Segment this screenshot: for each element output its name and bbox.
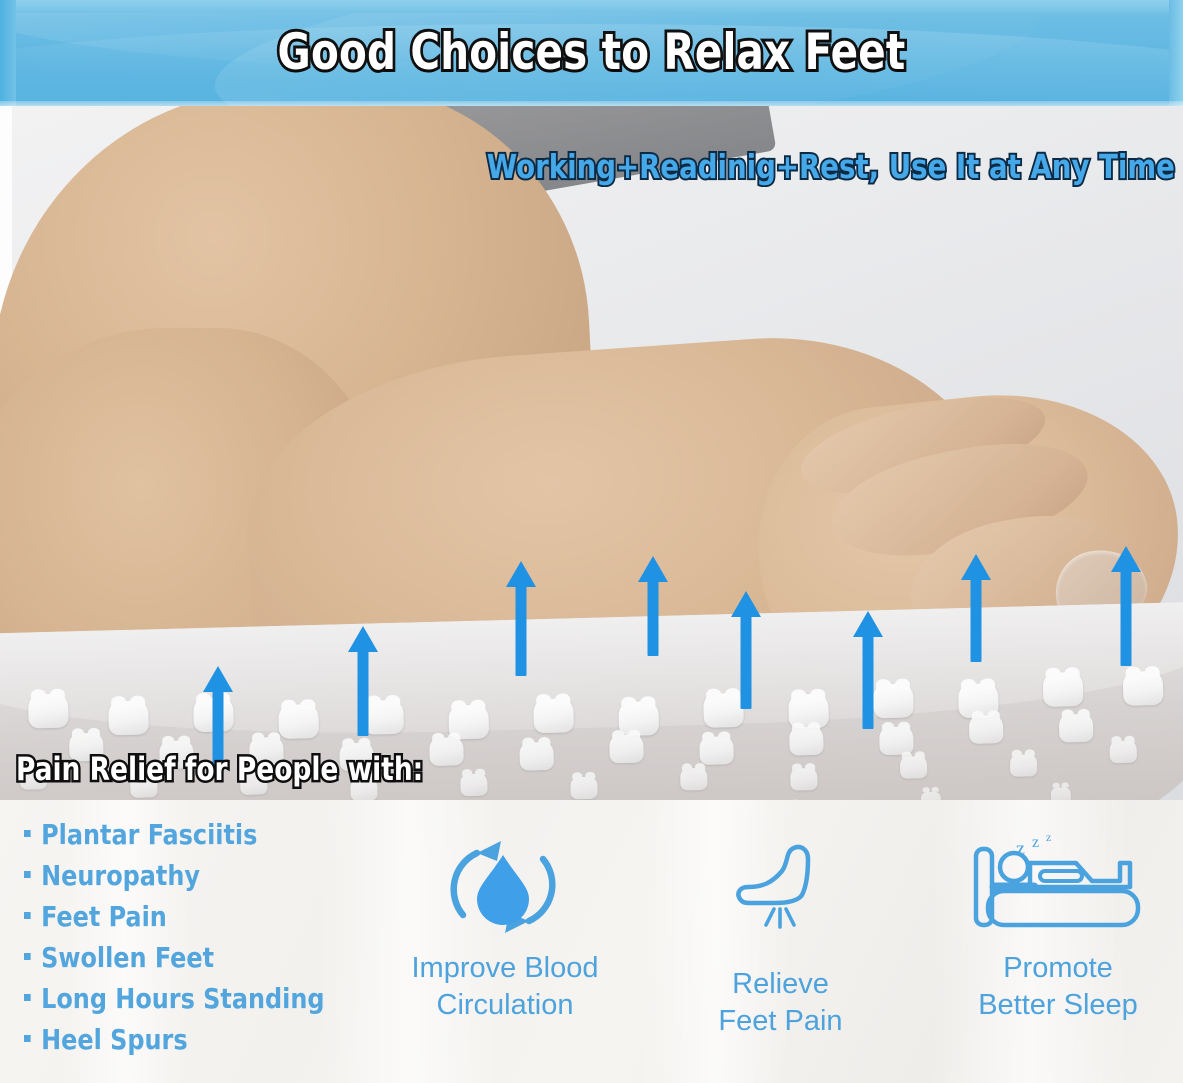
mat-nub [429,738,464,767]
arrow-head [961,554,991,580]
pressure-arrow-icon [350,626,376,736]
pressure-arrow-icon [963,554,989,662]
mat-nub [278,704,319,739]
arrow-shaft [648,580,659,656]
mat-nub [969,716,1004,745]
benefit-item-sleep: z z z Promote Better Sleep [933,828,1183,1024]
banner-left-edge [0,0,16,106]
list-item-label: Neuropathy [41,855,200,896]
person-sleeping-bed-icon: z z z [968,828,1148,946]
water-drop-circulation-icon [433,828,573,946]
mat-nub [921,791,941,800]
pain-relief-heading: Pain Relief for People with: [16,748,423,790]
foot-pain-relief-icon [716,828,846,946]
arrow-head [731,591,761,617]
mat-nub [533,698,574,733]
bullet-marker-icon [24,830,31,837]
list-item: Neuropathy [24,855,325,896]
pressure-arrow-icon [733,591,759,709]
arrow-head [506,561,536,587]
photo-subtitle: Working+Readinig+Rest, Use It at Any Tim… [487,144,1175,190]
arrow-head [853,611,883,637]
mat-nub [460,773,488,796]
pressure-arrow-icon [1113,546,1139,666]
page-title: Good Choices to Relax Feet [59,20,1124,84]
list-item: Swollen Feet [24,937,325,978]
header-banner: Good Choices to Relax Feet [0,0,1183,106]
arrow-shaft [358,650,369,736]
benefit-row: Improve Blood Circulation Relieve Feet P… [378,828,1183,1078]
arrow-head [203,666,233,692]
arrow-shaft [971,578,982,662]
benefit-item-relieve: Relieve Feet Pain [656,828,906,1040]
list-item: Feet Pain [24,896,325,937]
benefit-label-sleep: Promote Better Sleep [923,950,1183,1024]
mat-nub [108,701,149,736]
benefits-panel: Plantar FasciitisNeuropathyFeet PainSwol… [0,800,1183,1083]
mat-nub [789,727,824,756]
mat-nub [570,777,598,800]
mat-nub [1123,671,1164,706]
bullet-marker-icon [24,871,31,878]
list-item-label: Long Hours Standing [41,978,324,1019]
list-item: Long Hours Standing [24,978,325,1019]
list-item-label: Plantar Fasciitis [41,814,257,855]
product-photo: Working+Readinig+Rest, Use It at Any Tim… [0,106,1183,800]
mat-nub [699,736,734,765]
list-item: Heel Spurs [24,1019,325,1060]
mat-nub [900,757,928,780]
mat-nub [519,742,554,771]
svg-text:z: z [1032,834,1039,851]
svg-text:z: z [1046,830,1051,844]
bullet-marker-icon [24,1035,31,1042]
list-item-label: Swollen Feet [41,937,214,978]
mat-nub [790,768,818,791]
banner-right-edge [1169,0,1183,106]
arrow-head [348,626,378,652]
list-item-label: Heel Spurs [41,1019,187,1060]
list-item: Plantar Fasciitis [24,814,325,855]
benefit-label-relieve: Relieve Feet Pain [676,966,886,1040]
bullet-marker-icon [24,912,31,919]
pressure-arrow-icon [855,611,881,729]
benefit-label-circulation: Improve Blood Circulation [412,950,599,1024]
mat-nub [1051,787,1071,800]
mat-nub [1043,672,1084,707]
arrow-shaft [1121,570,1132,666]
pain-relief-list: Plantar FasciitisNeuropathyFeet PainSwol… [24,814,340,1060]
mat-nub [1109,741,1137,764]
bullet-marker-icon [24,953,31,960]
bullet-marker-icon [24,994,31,1001]
mat-nub [1010,754,1038,777]
list-item-label: Feet Pain [41,896,167,937]
arrow-shaft [741,615,752,709]
pressure-arrow-icon [508,561,534,676]
mat-nub [609,734,644,763]
benefit-item-circulation: Improve Blood Circulation [378,828,628,1024]
pressure-arrow-icon [640,556,666,656]
mat-nub [28,693,69,728]
mat-nub [1059,714,1094,743]
mat-nub [680,768,708,791]
arrow-head [1111,546,1141,572]
arrow-head [638,556,668,582]
product-infographic: Good Choices to Relax Feet Work [0,0,1183,1083]
banner-top-highlight [0,0,1183,13]
arrow-shaft [516,585,527,676]
arrow-shaft [863,635,874,729]
